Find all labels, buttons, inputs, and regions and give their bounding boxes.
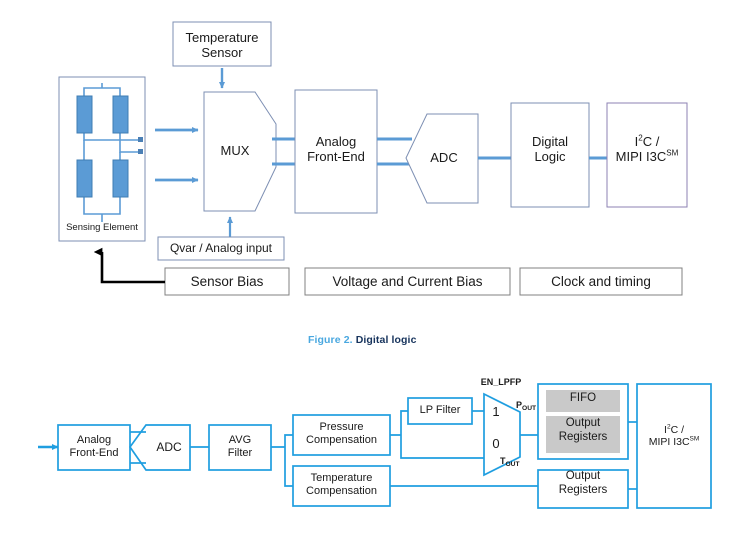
adc-shape bbox=[406, 114, 478, 203]
qvar-box bbox=[158, 237, 284, 260]
f2-analog-front-end-box bbox=[58, 425, 130, 470]
clock-timing-box bbox=[520, 268, 682, 295]
f2-avg-filter-box bbox=[209, 425, 271, 470]
f2-lp-filter-box bbox=[408, 398, 472, 424]
temperature-sensor-box bbox=[173, 22, 271, 66]
sensor-bias-box bbox=[165, 268, 289, 295]
f2-output-registers-p-box bbox=[546, 416, 620, 453]
f2-pressure-comp-box bbox=[293, 415, 390, 455]
f2-output-registers-t-box bbox=[538, 470, 628, 508]
mux-shape bbox=[204, 92, 276, 211]
sensor-bias-feedback-arrow bbox=[102, 252, 165, 282]
figure1-graphics bbox=[0, 0, 753, 330]
f2-temperature-comp-box bbox=[293, 466, 390, 506]
diagram-page: Temperature Sensor MUX Analog Front-End … bbox=[0, 0, 753, 525]
figure-caption: Figure 2. Digital logic bbox=[308, 334, 417, 346]
f2-interface-box bbox=[637, 384, 711, 508]
digital-logic-box bbox=[511, 103, 589, 207]
voltage-current-bias-box bbox=[305, 268, 510, 295]
f2-mux-shape bbox=[484, 394, 520, 475]
analog-front-end-box bbox=[295, 90, 377, 213]
figure2-graphics bbox=[0, 365, 753, 535]
f2-fifo-box bbox=[546, 390, 620, 412]
caption-number: Figure 2. bbox=[308, 334, 353, 346]
interface-box bbox=[607, 103, 687, 207]
caption-title: Digital logic bbox=[356, 334, 417, 346]
